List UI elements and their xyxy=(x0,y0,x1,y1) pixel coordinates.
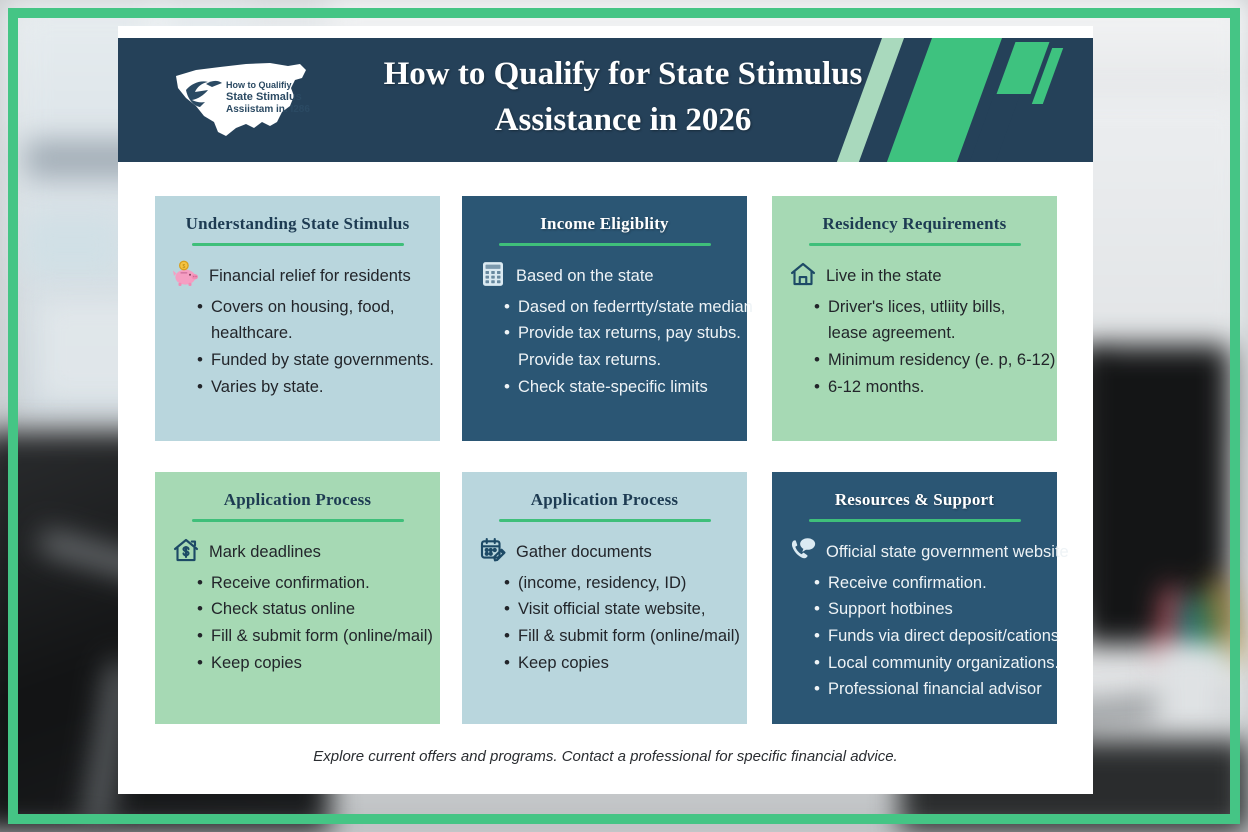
card-bullet-item: Fill & submit form (online/mail) xyxy=(197,623,424,650)
card-bullet-item: Funds via direct deposit/cations xyxy=(814,623,1041,650)
card-bullet-item: Minimum residency (e. p, 6-12) xyxy=(814,347,1041,374)
card-bullet-item: Dased on federrtty/state median xyxy=(504,294,731,321)
page-title-line-2: Assistance in 2026 xyxy=(268,98,978,144)
card-bullet-item: 6-12 months. xyxy=(814,374,1041,401)
calendar-pencil-icon xyxy=(478,535,508,565)
card-bullet-item: Keep copies xyxy=(197,650,424,677)
card-lead-text: Live in the state xyxy=(826,262,942,290)
card-bullet-list: Receive confirmation.Check status online… xyxy=(171,570,424,677)
card-bullet-item: (income, residency, ID) xyxy=(504,570,731,597)
house-dollar-icon xyxy=(171,535,201,565)
card-body: Based on the stateDased on federrtty/sta… xyxy=(478,262,731,400)
info-card-4: Application ProcessMark deadlinesReceive… xyxy=(155,472,440,724)
card-body: $Financial relief for residentsCovers on… xyxy=(171,262,424,400)
card-lead: $Financial relief for residents xyxy=(171,262,424,290)
card-body: Live in the stateDriver's lices, utliity… xyxy=(788,262,1041,400)
svg-text:$: $ xyxy=(182,264,185,270)
card-title-underline xyxy=(499,243,711,246)
card-bullet-item: Check status online xyxy=(197,596,424,623)
card-lead: Gather documents xyxy=(478,538,731,566)
card-bullet-item: Keep copies xyxy=(504,650,731,677)
phone-support-icon xyxy=(788,535,818,565)
card-title-underline xyxy=(809,243,1021,246)
calculator-icon xyxy=(478,259,508,289)
page-title-line-1: How to Qualify for State Stimulus xyxy=(268,52,978,98)
card-title: Resources & Support xyxy=(788,490,1041,510)
card-body: Gather documents(income, residency, ID)V… xyxy=(478,538,731,676)
card-lead-text: Mark deadlines xyxy=(209,538,321,566)
card-lead-text: Gather documents xyxy=(516,538,652,566)
info-card-3: Residency RequirementsLive in the stateD… xyxy=(772,196,1057,441)
card-title: Income Eligiblity xyxy=(478,214,731,234)
card-bullet-list: Dased on federrtty/state medianProvide t… xyxy=(478,294,731,401)
card-title-underline xyxy=(499,519,711,522)
infographic-stage: How to Qualifiy State Stimalus Assiistam… xyxy=(0,0,1248,832)
card-bullet-item: Driver's lices, utliity bills, xyxy=(814,294,1041,321)
card-lead-text: Based on the state xyxy=(516,262,654,290)
header-banner: How to Qualifiy State Stimalus Assiistam… xyxy=(118,38,1093,162)
info-card-6: Resources & SupportOfficial state govern… xyxy=(772,472,1057,724)
card-lead: Mark deadlines xyxy=(171,538,424,566)
card-body: Official state government websiteReceive… xyxy=(788,538,1041,703)
card-lead: Live in the state xyxy=(788,262,1041,290)
card-bullet-item: Provide tax returns, pay stubs. xyxy=(504,320,731,347)
card-bullet-item: Covers on housing, food, xyxy=(197,294,424,321)
page-title: How to Qualify for State Stimulus Assist… xyxy=(268,52,978,143)
card-title-underline xyxy=(809,519,1021,522)
card-title: Understanding State Stimulus xyxy=(171,214,424,234)
card-bullet-item: Receive confirmation. xyxy=(814,570,1041,597)
piggy-bank-icon: $ xyxy=(171,259,201,289)
footer-disclaimer: Explore current offers and programs. Con… xyxy=(118,748,1093,765)
card-bullet-item: Varies by state. xyxy=(197,374,424,401)
card-bullet-item: Funded by state governments. xyxy=(197,347,424,374)
card-bullet-item: Local community organizations. xyxy=(814,650,1041,677)
card-bullet-item: Fill & submit form (online/mail) xyxy=(504,623,731,650)
card-title: Application Process xyxy=(171,490,424,510)
card-lead-text: Financial relief for residents xyxy=(209,262,411,290)
card-bullet-list: Driver's lices, utliity bills,lease agre… xyxy=(788,294,1041,401)
card-bullet-item: Visit official state website, xyxy=(504,596,731,623)
card-bullet-item: Provide tax returns. xyxy=(504,347,731,374)
card-title: Residency Requirements xyxy=(788,214,1041,234)
card-title-underline xyxy=(192,243,404,246)
house-outline-icon xyxy=(788,259,818,289)
card-title-underline xyxy=(192,519,404,522)
card-title: Application Process xyxy=(478,490,731,510)
card-bullet-item: Receive confirmation. xyxy=(197,570,424,597)
card-bullet-item: healthcare. xyxy=(197,320,424,347)
info-card-5: Application ProcessGather documents(inco… xyxy=(462,472,747,724)
card-lead-text: Official state government website xyxy=(826,538,1069,566)
card-lead: Based on the state xyxy=(478,262,731,290)
info-card-2: Income EligiblityBased on the stateDased… xyxy=(462,196,747,441)
card-bullet-item: Support hotbines xyxy=(814,596,1041,623)
card-bullet-item: Professional financial advisor xyxy=(814,676,1041,703)
card-bullet-item: Check state-specific limits xyxy=(504,374,731,401)
info-card-1: Understanding State Stimulus$Financial r… xyxy=(155,196,440,441)
card-bullet-list: Receive confirmation.Support hotbinesFun… xyxy=(788,570,1041,704)
card-lead: Official state government website xyxy=(788,538,1041,566)
card-bullet-list: (income, residency, ID)Visit official st… xyxy=(478,570,731,677)
card-grid: Understanding State Stimulus$Financial r… xyxy=(155,196,1058,728)
card-bullet-list: Covers on housing, food,healthcare.Funde… xyxy=(171,294,424,401)
card-body: Mark deadlinesReceive confirmation.Check… xyxy=(171,538,424,676)
card-bullet-item: lease agreement. xyxy=(814,320,1041,347)
